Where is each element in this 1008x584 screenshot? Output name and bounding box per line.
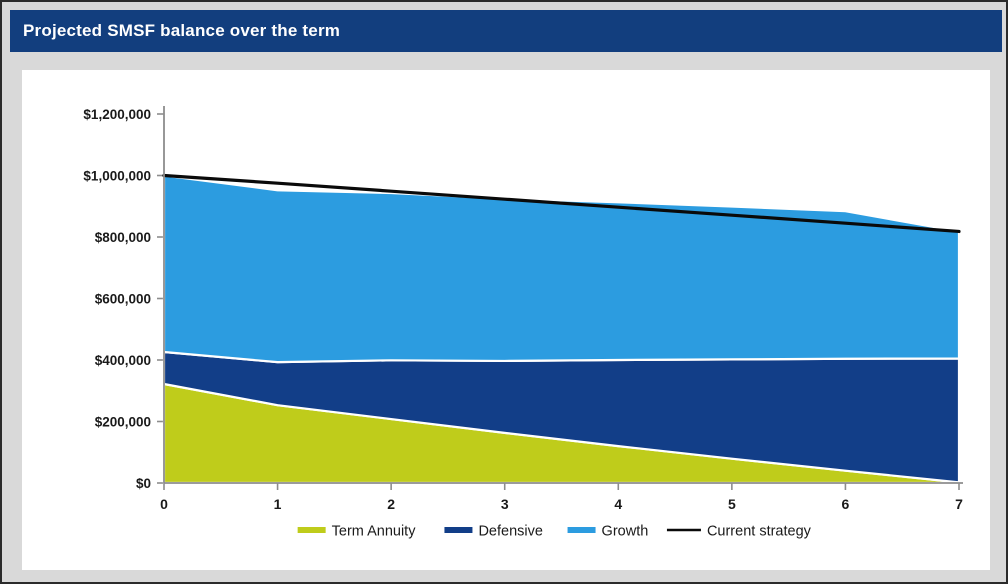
legend-item-defensive[interactable]: Defensive <box>444 524 542 540</box>
stacked-area-chart: $0$200,000$400,000$600,000$800,000$1,000… <box>22 70 990 570</box>
y-tick-label: $1,000,000 <box>83 169 151 184</box>
panel-title-bar: Projected SMSF balance over the term <box>10 10 1002 52</box>
y-tick-label: $400,000 <box>95 353 151 368</box>
y-tick-label: $0 <box>136 476 151 491</box>
x-tick-label: 1 <box>274 496 282 512</box>
x-tick-label: 3 <box>501 496 509 512</box>
legend-item-term-annuity[interactable]: Term Annuity <box>298 524 417 540</box>
legend-item-current-strategy[interactable]: Current strategy <box>667 524 812 540</box>
y-tick-label: $1,200,000 <box>83 107 151 122</box>
chart-plot-container: $0$200,000$400,000$600,000$800,000$1,000… <box>22 70 990 570</box>
legend-label: Growth <box>602 524 649 540</box>
y-axis-labels: $0$200,000$400,000$600,000$800,000$1,000… <box>83 107 151 491</box>
x-tick-label: 5 <box>728 496 736 512</box>
x-tick-label: 0 <box>160 496 168 512</box>
legend-label: Term Annuity <box>332 524 417 540</box>
legend-item-growth[interactable]: Growth <box>568 524 649 540</box>
legend-label: Defensive <box>478 524 542 540</box>
y-tick-label: $200,000 <box>95 415 151 430</box>
page-title: Projected SMSF balance over the term <box>10 21 340 41</box>
chart-legend: Term AnnuityDefensiveGrowthCurrent strat… <box>298 524 812 540</box>
y-tick-label: $800,000 <box>95 230 151 245</box>
x-tick-label: 2 <box>387 496 395 512</box>
x-tick-label: 7 <box>955 496 963 512</box>
chart-panel: Projected SMSF balance over the term $0$… <box>0 0 1008 584</box>
x-tick-label: 6 <box>842 496 850 512</box>
legend-label: Current strategy <box>707 524 812 540</box>
x-axis-labels: 01234567 <box>160 496 963 512</box>
x-tick-label: 4 <box>614 496 622 512</box>
y-tick-label: $600,000 <box>95 292 151 307</box>
